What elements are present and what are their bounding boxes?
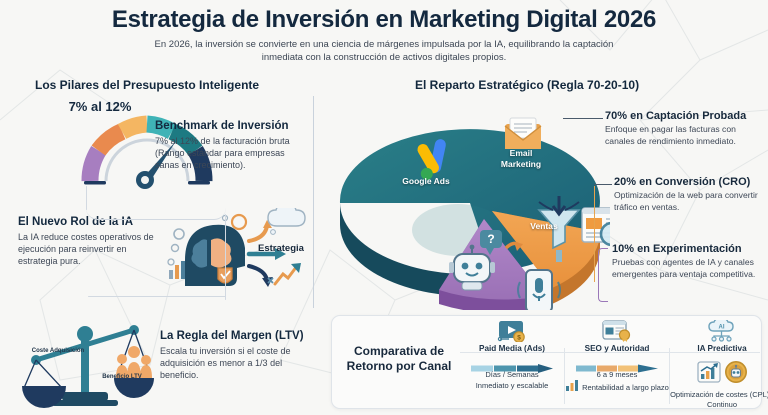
- svg-text:AI: AI: [719, 325, 725, 331]
- speed-bar-paid-media: [471, 360, 553, 369]
- comparison-header-seo: SEO y Autoridad: [565, 344, 669, 353]
- comparison-header-ai: IA Predictiva: [670, 344, 768, 353]
- section-heading-left: Los Pilares del Presupuesto Inteligente: [35, 78, 259, 92]
- balance-scale-illustration: [22, 312, 167, 408]
- bar-chart-icon: [565, 379, 579, 397]
- comparison-column-seo: SEO y Autoridad 6 a 9 meses: [565, 320, 669, 406]
- pillar-ai-role: El Nuevo Rol de la IA La IA reduce coste…: [18, 216, 163, 267]
- pillar-ltv-rule-body: Escala tu inversión si el coste de adqui…: [160, 345, 310, 381]
- annotation-70-body: Enfoque en pagar las facturas con canale…: [605, 124, 765, 147]
- pie-label-ventas: Ventas: [516, 221, 572, 231]
- ai-cloud-icon: AI: [670, 320, 768, 342]
- comparison-note-ai: Optimización de costes (CPL) - Continuo: [670, 390, 768, 409]
- page-title: Estrategia de Inversión en Marketing Dig…: [0, 6, 768, 34]
- page-subtitle: En 2026, la inversión se convierte en un…: [134, 38, 634, 64]
- comparison-note-paid-media: Inmediato y escalable: [460, 381, 564, 391]
- connector-line-1b: [86, 186, 87, 210]
- comparison-note-seo: Rentabilidad a largo plazo: [582, 383, 669, 393]
- seo-certificate-icon: [565, 320, 669, 342]
- pillar-benchmark-title: Benchmark de Inversión: [155, 120, 305, 132]
- annotation-10-body: Pruebas con agentes de IA y canales emer…: [612, 257, 764, 280]
- svg-text:?: ?: [487, 232, 494, 246]
- pillar-benchmark: Benchmark de Inversión 7% al 12% de la f…: [155, 120, 305, 171]
- gauge-value-label: 7% al 12%: [40, 99, 160, 114]
- comparison-note-row-seo: Rentabilidad a largo plazo: [565, 379, 669, 397]
- pillar-ai-role-body: La IA reduce costes operativos de ejecuc…: [18, 231, 163, 267]
- column-divider: [313, 96, 314, 308]
- leader-line-70: [563, 118, 603, 119]
- section-heading-right: El Reparto Estratégico (Regla 70-20-10): [415, 78, 639, 92]
- pie-label-google-ads: Google Ads: [386, 176, 466, 186]
- robot-coin-icon: [724, 361, 748, 388]
- annotation-20-heading: 20% en Conversión (CRO): [614, 176, 766, 188]
- connector-line-3: [88, 296, 226, 297]
- leader-line-20: [594, 184, 612, 185]
- annotation-10-heading: 10% en Experimentación: [612, 243, 764, 255]
- comparison-title: Comparativa de Retorno por Canal: [340, 344, 458, 374]
- annotation-10-experimentacion: 10% en Experimentación Pruebas con agent…: [612, 243, 764, 280]
- comparison-header-paid-media: Paid Media (Ads): [460, 344, 564, 353]
- scale-label-cost: Coste Adquisición: [28, 348, 88, 355]
- annotation-20-conversion: 20% en Conversión (CRO) Optimización de …: [614, 176, 766, 213]
- leader-bracket-20: [594, 186, 595, 282]
- ai-arrow-label: Estrategia: [258, 243, 304, 254]
- comparison-column-paid-media: $ Paid Media (Ads) Días / Semanas Inmedi…: [460, 320, 564, 406]
- svg-text:$: $: [517, 334, 521, 341]
- connector-line-1: [86, 186, 226, 220]
- scale-label-benefit: Beneficio LTV: [96, 374, 148, 381]
- video-ad-icon: $: [460, 320, 564, 342]
- pie-label-email-marketing: EmailMarketing: [488, 148, 554, 170]
- comparison-column-ai: AI IA Predictiva: [670, 320, 768, 406]
- speed-bar-seo: [576, 360, 658, 369]
- annotation-20-body: Optimización de la web para convertir tr…: [614, 190, 766, 213]
- annotation-70-captacion: 70% en Captación Probada Enfoque en paga…: [605, 110, 765, 147]
- pillar-benchmark-body: 7% al 12% de la facturación bruta (Rango…: [155, 135, 305, 171]
- connector-line-2: [225, 214, 226, 300]
- pillar-ltv-rule-title: La Regla del Margen (LTV): [160, 330, 310, 342]
- channel-return-comparison-card: Comparativa de Retorno por Canal $ Paid …: [331, 315, 762, 409]
- annotation-70-heading: 70% en Captación Probada: [605, 110, 765, 122]
- budget-allocation-pie-chart: ?: [330, 98, 610, 310]
- comparison-icons-ai: [670, 361, 768, 388]
- leader-bracket-10: [598, 248, 608, 302]
- pillar-ltv-rule: La Regla del Margen (LTV) Escala tu inve…: [160, 330, 310, 381]
- growth-chart-icon: [697, 361, 721, 388]
